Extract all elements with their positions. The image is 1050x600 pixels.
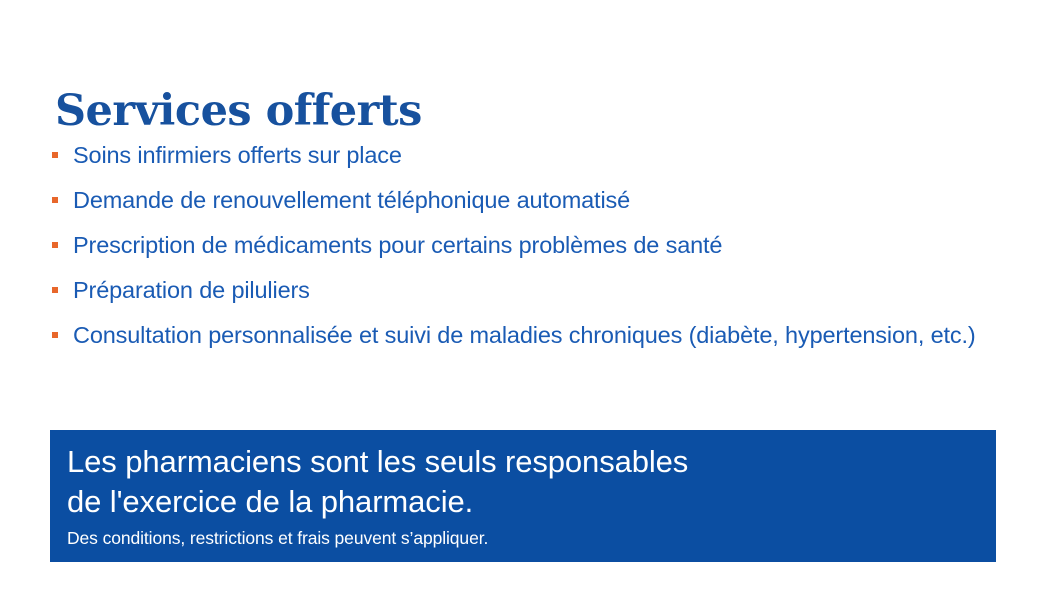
list-item-label: Demande de renouvellement téléphonique a…	[73, 187, 630, 213]
list-item-label: Prescription de médicaments pour certain…	[73, 232, 722, 258]
list-item-label: Consultation personnalisée et suivi de m…	[73, 322, 976, 348]
page-title: Services offerts	[55, 89, 422, 134]
square-bullet-icon	[52, 152, 58, 158]
square-bullet-icon	[52, 197, 58, 203]
notice-banner: Les pharmaciens sont les seuls responsab…	[50, 430, 996, 562]
list-item: Préparation de piluliers	[52, 275, 1027, 306]
list-item: Prescription de médicaments pour certain…	[52, 230, 1027, 261]
square-bullet-icon	[52, 242, 58, 248]
list-item-label: Préparation de piluliers	[73, 277, 310, 303]
list-item: Consultation personnalisée et suivi de m…	[52, 320, 1027, 351]
square-bullet-icon	[52, 287, 58, 293]
list-item-label: Soins infirmiers offerts sur place	[73, 142, 402, 168]
list-item: Soins infirmiers offerts sur place	[52, 140, 1027, 171]
notice-line-2: de l'exercice de la pharmacie.	[67, 482, 996, 522]
services-bullet-list: Soins infirmiers offerts sur place Deman…	[52, 140, 1027, 365]
notice-line-1: Les pharmaciens sont les seuls responsab…	[67, 442, 996, 482]
notice-disclaimer: Des conditions, restrictions et frais pe…	[67, 527, 996, 550]
square-bullet-icon	[52, 332, 58, 338]
slide-canvas: Services offerts Soins infirmiers offert…	[0, 0, 1050, 600]
list-item: Demande de renouvellement téléphonique a…	[52, 185, 1027, 216]
